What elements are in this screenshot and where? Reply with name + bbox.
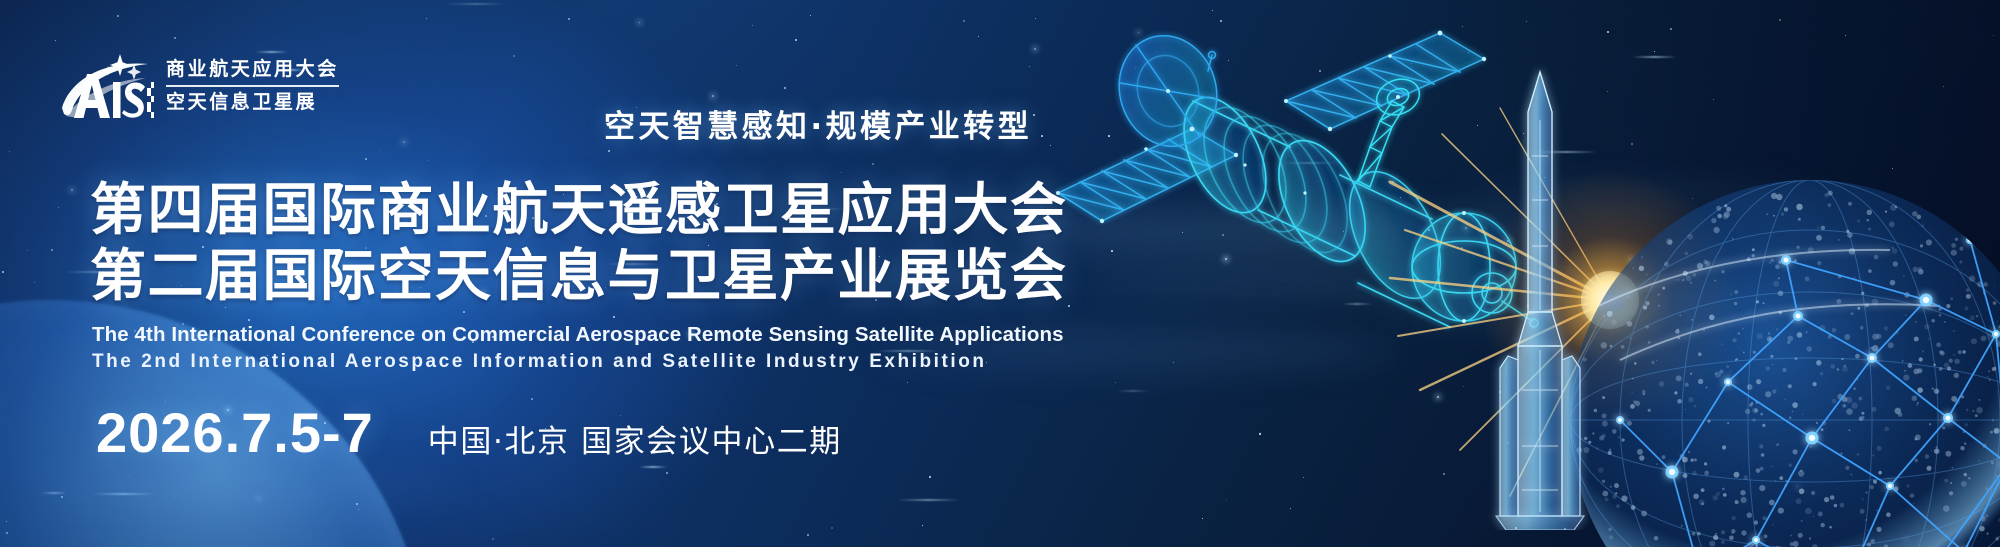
logo-line-2: 空天信息卫星展: [166, 91, 339, 114]
headline-block: 第四届国际商业航天遥感卫星应用大会 第二届国际空天信息与卫星产业展览会: [90, 178, 1068, 309]
event-banner: 商业航天应用大会 空天信息卫星展 空天智慧感知·规模产业转型 第四届国际商业航天…: [0, 0, 2000, 547]
logo-text-block: 商业航天应用大会 空天信息卫星展: [166, 58, 339, 114]
logo-line-1: 商业航天应用大会: [166, 58, 339, 81]
headline-line-1: 第四届国际商业航天遥感卫星应用大会: [90, 178, 1068, 244]
subtitle-en-2: The 2nd International Aerospace Informat…: [92, 349, 1064, 376]
brand-logo[interactable]: 商业航天应用大会 空天信息卫星展: [58, 50, 339, 122]
logo-divider: [166, 85, 339, 86]
footer-block: 2026.7.5-7 中国·北京 国家会议中心二期: [96, 400, 842, 465]
aise-swoosh-logo-icon: [58, 50, 154, 122]
subtitle-block: The 4th International Conference on Comm…: [92, 321, 1064, 376]
headline-line-2: 第二届国际空天信息与卫星产业展览会: [90, 244, 1068, 310]
event-venue: 中国·北京 国家会议中心二期: [428, 416, 842, 461]
event-date: 2026.7.5-7: [96, 400, 374, 465]
subtitle-en-1: The 4th International Conference on Comm…: [92, 321, 1064, 349]
tagline: 空天智慧感知·规模产业转型: [604, 101, 1032, 146]
